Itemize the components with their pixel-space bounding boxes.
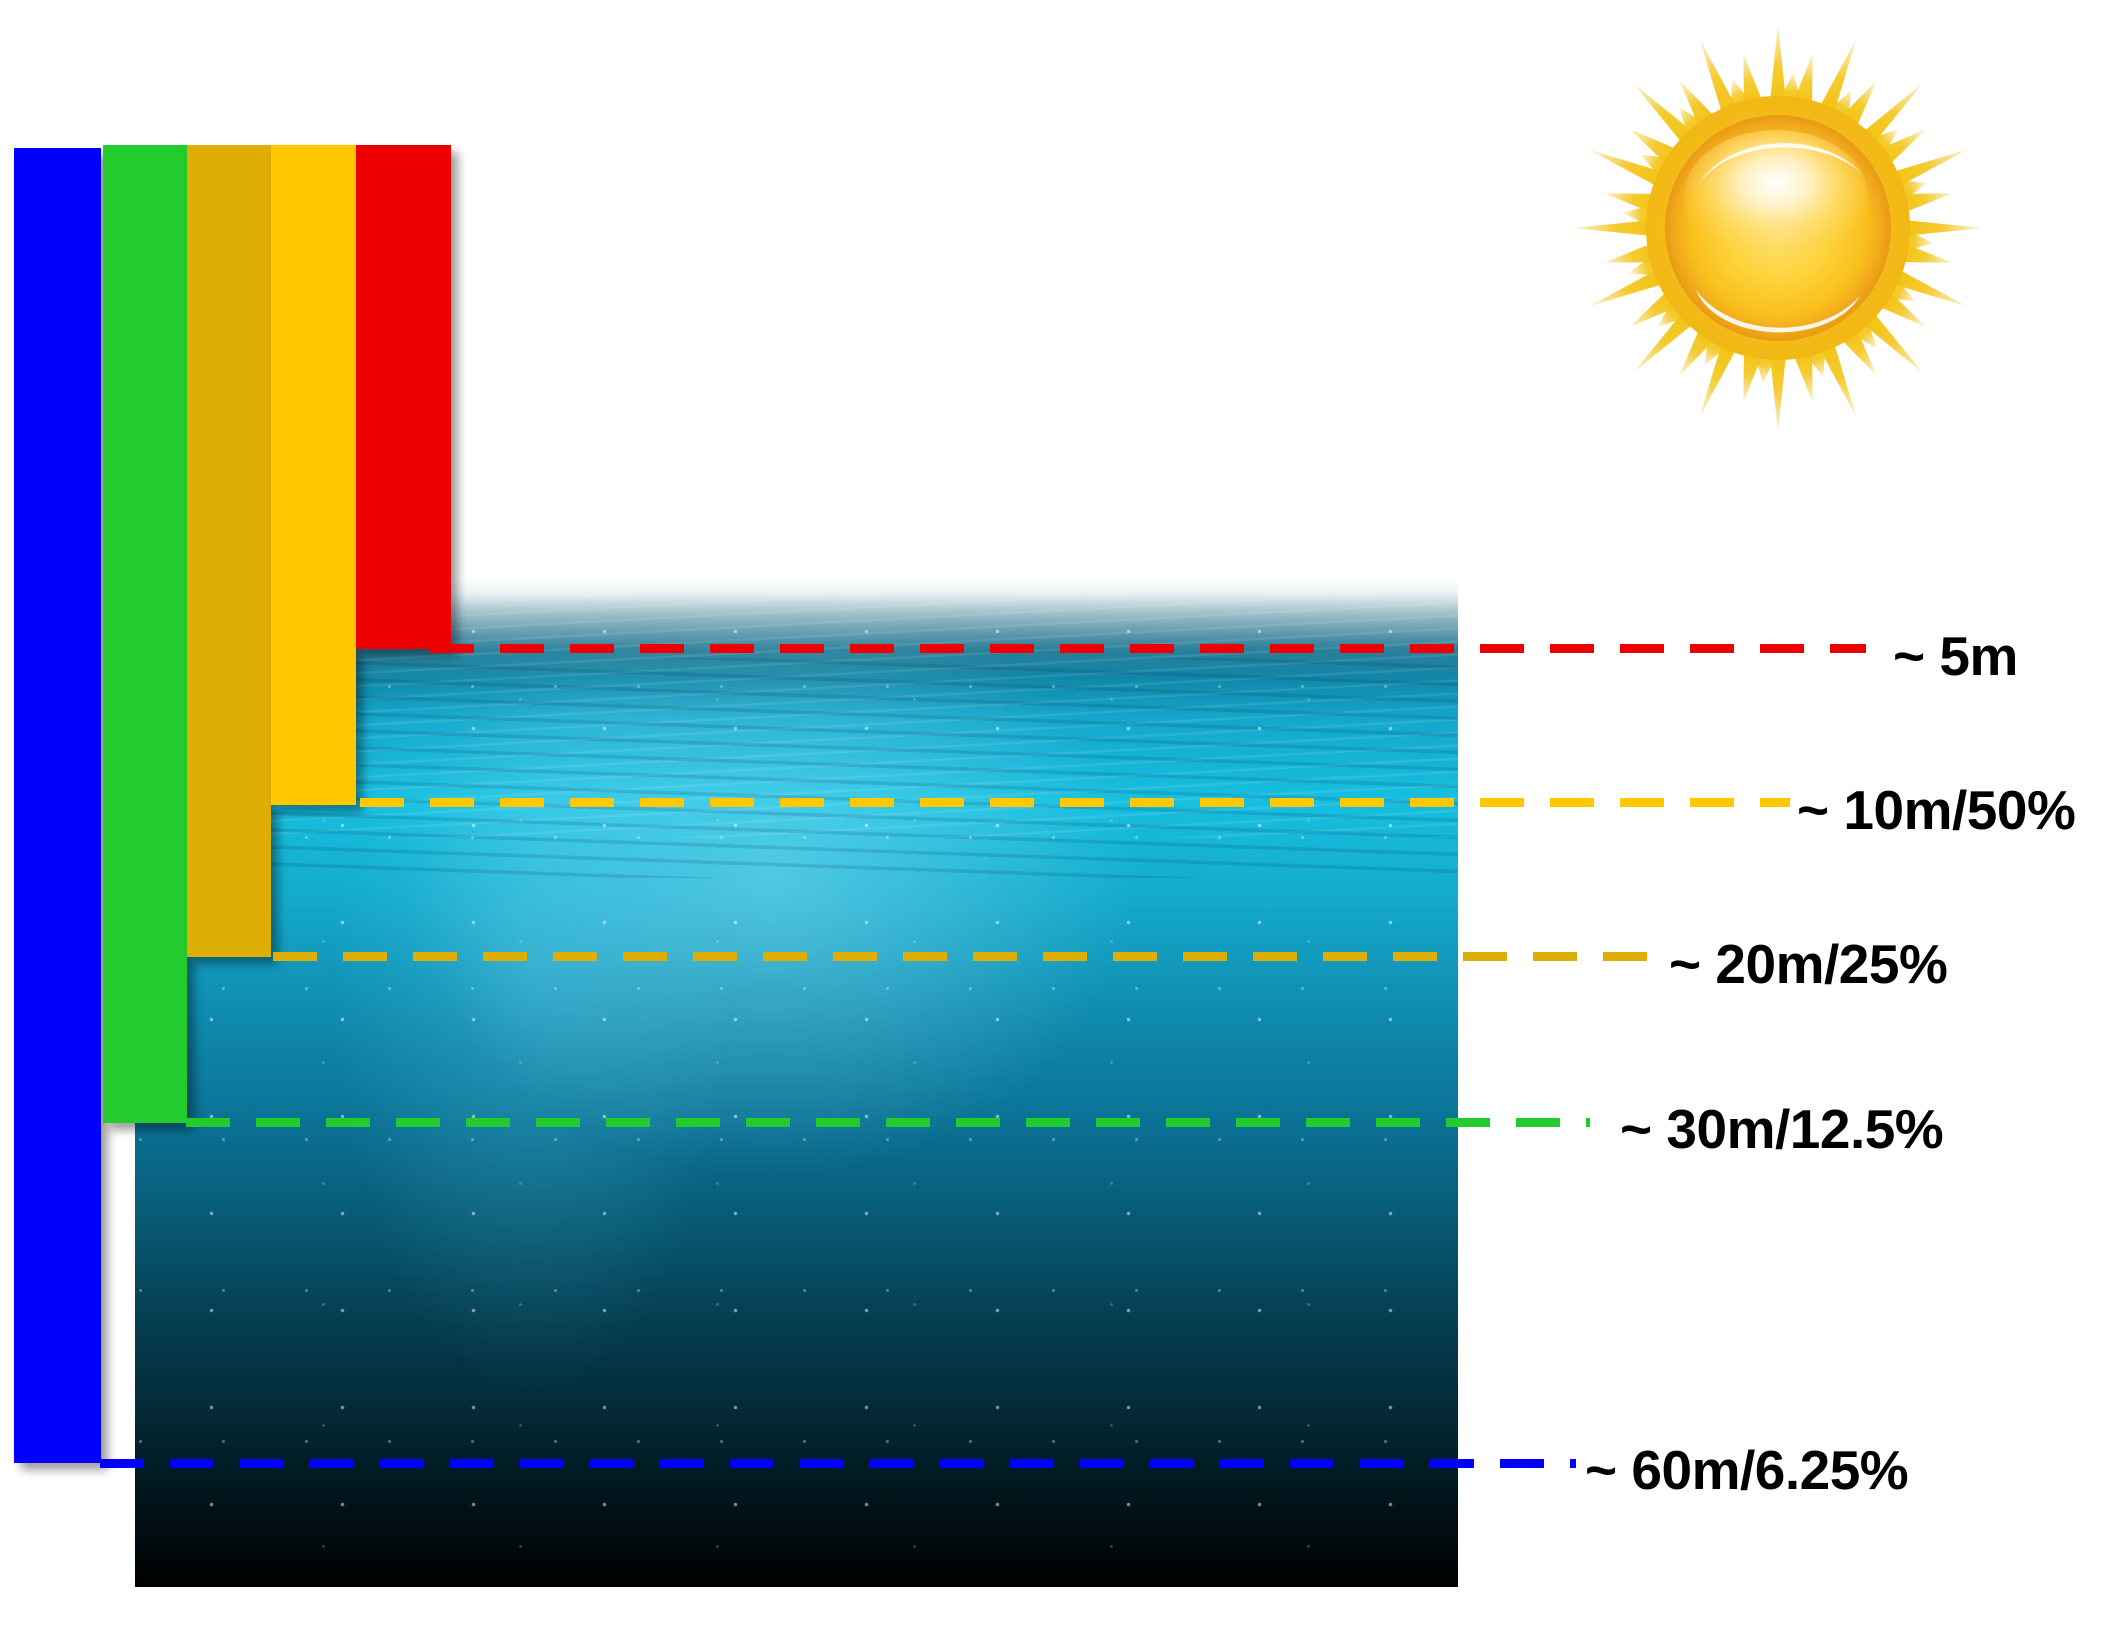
depth-label-60m: ~ 60m/6.25% (1585, 1443, 1908, 1498)
bar-orange (187, 145, 271, 957)
bar-red (356, 145, 451, 649)
depth-label-30m: ~ 30m/12.5% (1620, 1102, 1943, 1157)
bar-green (103, 145, 187, 1123)
light-penetration-diagram: ~ 5m ~ 10m/50% ~ 20m/25% ~ 30m/12.5% ~ 6… (0, 0, 2105, 1649)
depth-line-30m (186, 1118, 1590, 1127)
depth-line-10m (360, 798, 1790, 807)
bar-blue (14, 148, 101, 1463)
depth-label-20m: ~ 20m/25% (1669, 937, 1947, 992)
sun-icon (1568, 18, 1988, 438)
depth-line-60m (100, 1459, 1576, 1468)
depth-line-20m (273, 952, 1648, 961)
depth-label-10m: ~ 10m/50% (1797, 783, 2075, 838)
depth-label-5m: ~ 5m (1893, 629, 2018, 684)
bar-yellow (271, 145, 356, 805)
depth-line-5m (430, 644, 1866, 653)
sun-gloss (1684, 130, 1868, 262)
